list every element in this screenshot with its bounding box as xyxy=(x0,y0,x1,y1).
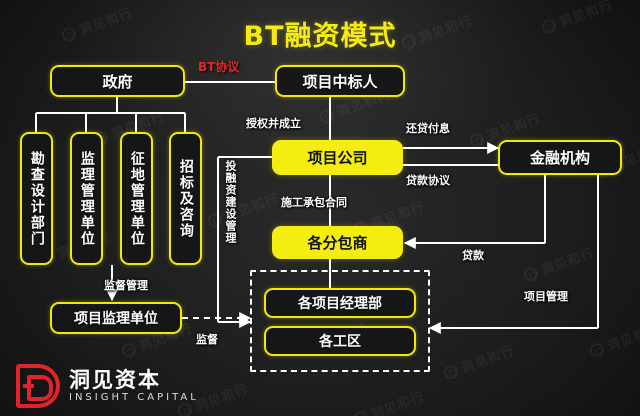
label-supervise: 监督 xyxy=(196,331,218,347)
watermark: 洞见和行 xyxy=(205,188,281,231)
label-bt-agreement: BT协议 xyxy=(198,58,239,75)
watermark-d-icon xyxy=(120,341,138,359)
node-government[interactable]: 政府 xyxy=(50,65,185,97)
label-loan: 贷款 xyxy=(462,247,484,263)
label-loan-agreement: 贷款协议 xyxy=(406,172,450,188)
d-logo-icon xyxy=(16,364,60,408)
watermark: 洞见和行 xyxy=(351,386,427,416)
label-authorize-and-establish: 授权并成立 xyxy=(246,115,301,131)
project-execution-group xyxy=(250,270,430,372)
watermark-d-icon xyxy=(318,107,336,125)
node-project-company[interactable]: 项目公司 xyxy=(272,140,403,175)
node-subcontractors[interactable]: 各分包商 xyxy=(272,226,403,259)
node-land-acquisition-management[interactable]: 征地管理单位 xyxy=(120,132,153,265)
label-construction-contract: 施工承包合同 xyxy=(281,194,347,210)
diagram-canvas: 洞见和行洞见和行洞见和行洞见和行洞见和行洞见和行洞见和行洞见和行洞见和行洞见和行… xyxy=(0,0,640,416)
watermark: 洞见和行 xyxy=(441,340,517,383)
watermark-d-icon xyxy=(522,265,540,283)
node-supervision-management[interactable]: 监理管理单位 xyxy=(70,132,103,265)
node-winning-bidder[interactable]: 项目中标人 xyxy=(275,65,405,97)
watermark-text: 洞见和行 xyxy=(368,386,427,416)
watermark-text: 洞见和行 xyxy=(192,378,251,415)
watermark-text: 洞见和行 xyxy=(538,242,597,279)
label-supervise-and-manage: 监督管理 xyxy=(104,277,148,293)
node-survey-design[interactable]: 勘查设计部门 xyxy=(20,132,53,265)
watermark-text: 洞见和行 xyxy=(458,340,517,377)
watermark-d-icon xyxy=(352,409,370,416)
watermark: 洞见和行 xyxy=(521,242,597,285)
brand-name-en: INSIGHT CAPITAL xyxy=(69,393,199,403)
page-title: BT融资模式 xyxy=(0,14,640,53)
watermark: 洞见和行 xyxy=(587,318,640,361)
node-project-supervision-unit[interactable]: 项目监理单位 xyxy=(50,302,182,334)
node-work-zones[interactable]: 各工区 xyxy=(264,326,416,356)
label-invest-finance-build-manage: 投融资建设管理 xyxy=(222,160,238,310)
node-financial-institution[interactable]: 金融机构 xyxy=(498,140,622,175)
node-project-management-departments[interactable]: 各项目经理部 xyxy=(264,288,416,318)
watermark-d-icon xyxy=(468,131,486,149)
node-tender-and-consulting[interactable]: 招标及咨询 xyxy=(169,132,202,265)
watermark-d-icon xyxy=(442,363,460,381)
label-repay-loan-interest: 还贷付息 xyxy=(406,120,450,136)
watermark-d-icon xyxy=(588,341,606,359)
brand-name-cn: 洞见资本 xyxy=(69,370,199,391)
watermark-text: 洞见和行 xyxy=(604,318,640,355)
brand-logo: 洞见资本 INSIGHT CAPITAL xyxy=(16,364,199,408)
label-project-management: 项目管理 xyxy=(524,288,568,304)
